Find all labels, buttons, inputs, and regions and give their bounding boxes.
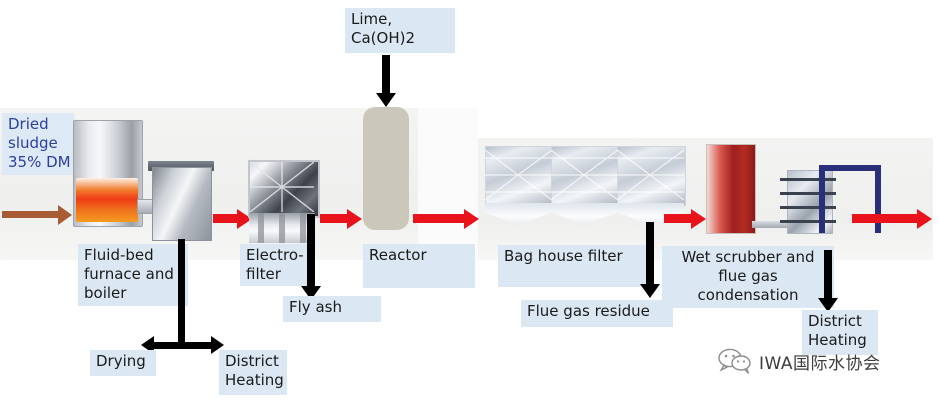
electro-filter-support-legs <box>249 213 315 243</box>
electro-filter-grid-icon <box>250 162 314 212</box>
boiler-vessel <box>152 167 212 241</box>
stage-label-reactor: Reactor <box>363 244 475 288</box>
heat-takeoff-tee <box>151 342 213 349</box>
bag-filter-grid-icon <box>617 146 684 204</box>
process-flow-diagram: Dried sludge 35% DM Fluid-bed furnace an… <box>0 0 939 401</box>
output-label-district-heating-1: District Heating <box>219 350 287 395</box>
bag-filter-grid-icon <box>551 146 618 204</box>
watermark-logo: IWA国际水协会 <box>718 348 881 374</box>
wechat-bubbles-icon <box>718 348 752 374</box>
output-label-drying: Drying <box>90 350 156 376</box>
heat-takeoff-line <box>178 239 185 349</box>
input-label-dried-sludge: Dried sludge 35% DM <box>2 113 74 175</box>
watermark-text: IWA国际水协会 <box>759 349 881 374</box>
output-label-flue-gas-residue: Flue gas residue <box>521 300 673 327</box>
stage-label-bag-house-filter: Bag house filter <box>498 245 648 287</box>
wet-scrubber-column <box>706 144 756 234</box>
stage-label-wet-scrubber: Wet scrubber and flue gas condensation <box>662 246 834 308</box>
background-panel-mid <box>418 108 478 260</box>
bag-house-filter-unit-3 <box>617 146 684 224</box>
bag-house-filter-unit-2 <box>551 146 618 224</box>
bag-filter-grid-icon <box>485 146 552 204</box>
output-label-fly-ash: Fly ash <box>283 296 381 322</box>
stage-label-furnace: Fluid-bed furnace and boiler <box>78 244 188 306</box>
reactor-vessel <box>363 107 409 230</box>
stage-label-electro-filter: Electro- filter <box>240 244 308 286</box>
additive-label-lime: Lime, Ca(OH)2 <box>345 8 455 53</box>
bag-house-filter-unit-1 <box>485 146 552 224</box>
furnace-fire-bed <box>76 178 138 222</box>
